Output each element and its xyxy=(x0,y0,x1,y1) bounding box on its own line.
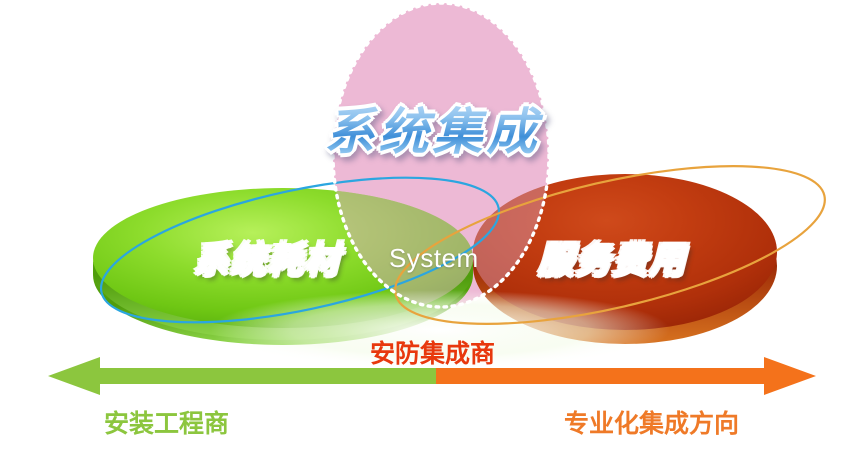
floor-glow xyxy=(210,290,670,370)
diagram-artwork xyxy=(0,0,865,450)
venn-diagram-canvas: 系统集成 系统耗材 服务费用 System 安防集成商 安装工程商 专业化集成方… xyxy=(0,0,865,450)
